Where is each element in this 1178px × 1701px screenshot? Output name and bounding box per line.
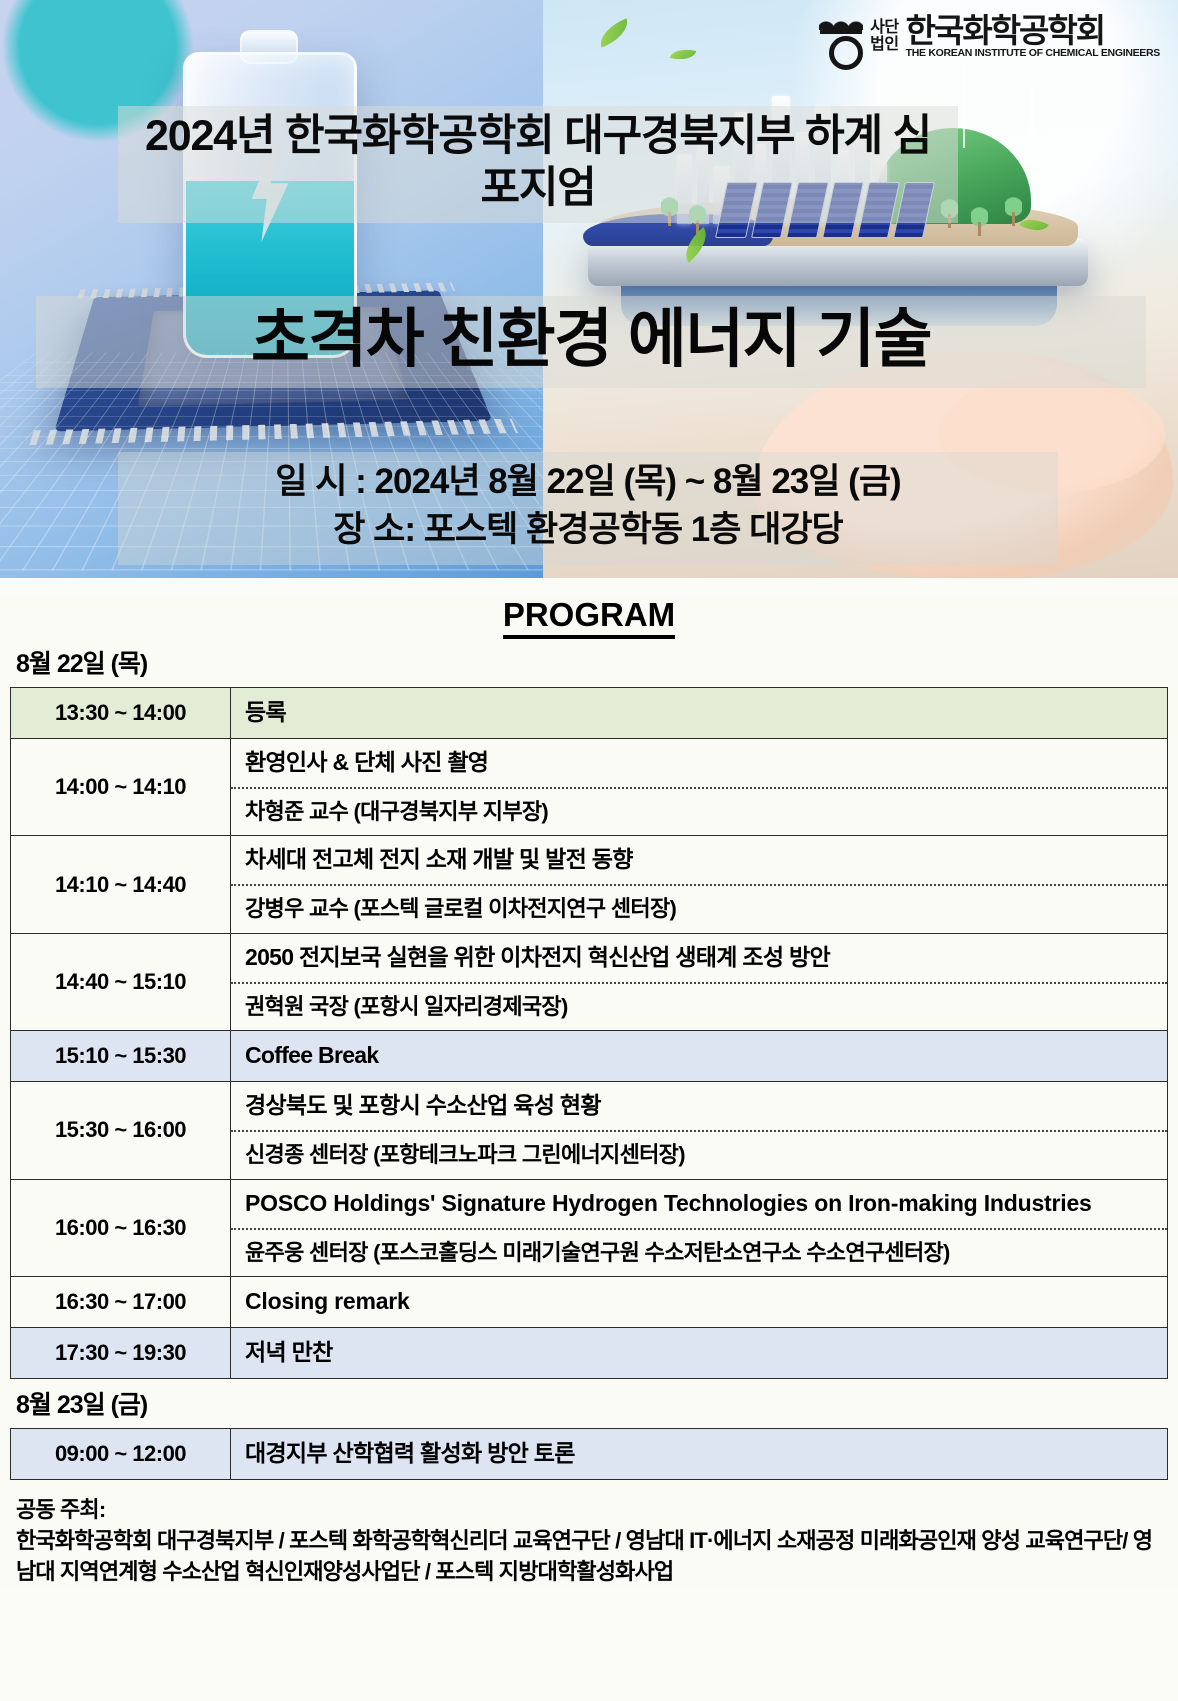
schedule-time: 14:40 ~ 15:10 bbox=[11, 933, 231, 1030]
session-speaker: 강병우 교수 (포스텍 글로컬 이차전지연구 센터장) bbox=[231, 886, 1167, 933]
wind-turbine-icon bbox=[963, 62, 965, 148]
schedule-time: 15:10 ~ 15:30 bbox=[11, 1031, 231, 1082]
logo-sadan-line1: 사단 bbox=[870, 20, 898, 37]
session-speaker: 윤주웅 센터장 (포스코홀딩스 미래기술연구원 수소저탄소연구소 수소연구센터장… bbox=[231, 1230, 1167, 1277]
program-days: 8월 22일 (목)13:30 ~ 14:00등록14:00 ~ 14:10환영… bbox=[10, 644, 1168, 1480]
program-section: PROGRAM 8월 22일 (목)13:30 ~ 14:00등록14:00 ~… bbox=[0, 596, 1178, 1588]
session-title: 경상북도 및 포항시 수소산업 육성 현황 bbox=[231, 1082, 1167, 1132]
program-heading: PROGRAM bbox=[10, 596, 1168, 634]
tree-icon bbox=[1005, 196, 1022, 226]
session-title: 환영인사 & 단체 사진 촬영 bbox=[231, 739, 1167, 789]
session-title: 2050 전지보국 실현을 위한 이차전지 혁신산업 생태계 조성 방안 bbox=[231, 934, 1167, 984]
schedule-row: 14:40 ~ 15:102050 전지보국 실현을 위한 이차전지 혁신산업 … bbox=[11, 933, 1168, 1030]
program-heading-text: PROGRAM bbox=[503, 596, 675, 639]
wind-turbine-icon bbox=[1031, 84, 1033, 170]
day-heading: 8월 23일 (금) bbox=[16, 1385, 1168, 1421]
session-item: Closing remark bbox=[231, 1277, 1167, 1327]
event-location: 장 소: 포스텍 환경공학동 1층 대강당 bbox=[126, 506, 1050, 554]
schedule-row: 14:00 ~ 14:10환영인사 & 단체 사진 촬영차형준 교수 (대구경북… bbox=[11, 738, 1168, 835]
schedule-content: Coffee Break bbox=[231, 1031, 1168, 1082]
event-title: 2024년 한국화학공학회 대구경북지부 하계 심포지엄 bbox=[118, 106, 958, 223]
schedule-row: 09:00 ~ 12:00대경지부 산학협력 활성화 방안 토론 bbox=[11, 1428, 1168, 1479]
schedule-time: 13:30 ~ 14:00 bbox=[11, 688, 231, 739]
event-meta: 일 시 : 2024년 8월 22일 (목) ~ 8월 23일 (금) 장 소:… bbox=[118, 452, 1058, 565]
schedule-table: 09:00 ~ 12:00대경지부 산학협력 활성화 방안 토론 bbox=[10, 1428, 1168, 1480]
session-item: 등록 bbox=[231, 688, 1167, 738]
hero-banner: 사단 법인 한국화학공학회 THE KOREAN INSTITUTE OF CH… bbox=[0, 0, 1178, 578]
schedule-content: Closing remark bbox=[231, 1277, 1168, 1328]
kiche-logo: 사단 법인 한국화학공학회 THE KOREAN INSTITUTE OF CH… bbox=[819, 14, 1160, 60]
session-item: 저녁 만찬 bbox=[231, 1328, 1167, 1378]
schedule-content: 차세대 전고체 전지 소재 개발 및 발전 동향강병우 교수 (포스텍 글로컬 … bbox=[231, 836, 1168, 933]
logo-english-name: THE KOREAN INSTITUTE OF CHEMICAL ENGINEE… bbox=[906, 47, 1160, 59]
kiche-emblem-icon bbox=[819, 14, 863, 60]
session-item: Coffee Break bbox=[231, 1031, 1167, 1081]
schedule-time: 15:30 ~ 16:00 bbox=[11, 1082, 231, 1179]
session-speaker: 권혁원 국장 (포항시 일자리경제국장) bbox=[231, 984, 1167, 1031]
schedule-time: 14:10 ~ 14:40 bbox=[11, 836, 231, 933]
logo-names: 한국화학공학회 THE KOREAN INSTITUTE OF CHEMICAL… bbox=[906, 15, 1160, 59]
logo-korean-name: 한국화학공학회 bbox=[906, 15, 1160, 47]
schedule-time: 16:00 ~ 16:30 bbox=[11, 1179, 231, 1276]
schedule-row: 13:30 ~ 14:00등록 bbox=[11, 688, 1168, 739]
session-speaker: 신경종 센터장 (포항테크노파크 그린에너지센터장) bbox=[231, 1132, 1167, 1179]
schedule-time: 16:30 ~ 17:00 bbox=[11, 1277, 231, 1328]
cohost-block: 공동 주최: 한국화학공학회 대구경북지부 / 포스텍 화학공학혁신리더 교육연… bbox=[16, 1494, 1168, 1588]
day-heading: 8월 22일 (목) bbox=[16, 644, 1168, 680]
schedule-table: 13:30 ~ 14:00등록14:00 ~ 14:10환영인사 & 단체 사진… bbox=[10, 687, 1168, 1379]
schedule-time: 17:30 ~ 19:30 bbox=[11, 1328, 231, 1379]
cohost-label: 공동 주최: bbox=[16, 1494, 1168, 1525]
poster-root: 사단 법인 한국화학공학회 THE KOREAN INSTITUTE OF CH… bbox=[0, 0, 1178, 1701]
session-title: 차세대 전고체 전지 소재 개발 및 발전 동향 bbox=[231, 836, 1167, 886]
schedule-content: 저녁 만찬 bbox=[231, 1328, 1168, 1379]
schedule-row: 17:30 ~ 19:30저녁 만찬 bbox=[11, 1328, 1168, 1379]
schedule-time: 14:00 ~ 14:10 bbox=[11, 738, 231, 835]
schedule-time: 09:00 ~ 12:00 bbox=[11, 1428, 231, 1479]
session-item: 대경지부 산학협력 활성화 방안 토론 bbox=[231, 1429, 1167, 1479]
logo-sadan-line2: 법인 bbox=[870, 37, 898, 54]
tree-icon bbox=[971, 206, 988, 236]
logo-corporation-mark: 사단 법인 bbox=[870, 20, 898, 54]
schedule-content: 환영인사 & 단체 사진 촬영차형준 교수 (대구경북지부 지부장) bbox=[231, 738, 1168, 835]
schedule-row: 15:30 ~ 16:00경상북도 및 포항시 수소산업 육성 현황신경종 센터… bbox=[11, 1082, 1168, 1179]
event-subject: 초격차 친환경 에너지 기술 bbox=[36, 296, 1146, 388]
schedule-content: 등록 bbox=[231, 688, 1168, 739]
schedule-row: 16:00 ~ 16:30POSCO Holdings' Signature H… bbox=[11, 1179, 1168, 1276]
session-speaker: 차형준 교수 (대구경북지부 지부장) bbox=[231, 789, 1167, 836]
schedule-content: 대경지부 산학협력 활성화 방안 토론 bbox=[231, 1428, 1168, 1479]
leaf-icon bbox=[670, 45, 696, 63]
session-title: POSCO Holdings' Signature Hydrogen Techn… bbox=[231, 1180, 1167, 1230]
cohost-body: 한국화학공학회 대구경북지부 / 포스텍 화학공학혁신리더 교육연구단 / 영남… bbox=[16, 1525, 1168, 1587]
schedule-row: 15:10 ~ 15:30Coffee Break bbox=[11, 1031, 1168, 1082]
schedule-row: 16:30 ~ 17:00Closing remark bbox=[11, 1277, 1168, 1328]
schedule-content: 2050 전지보국 실현을 위한 이차전지 혁신산업 생태계 조성 방안권혁원 … bbox=[231, 933, 1168, 1030]
event-datetime: 일 시 : 2024년 8월 22일 (목) ~ 8월 23일 (금) bbox=[126, 458, 1050, 506]
schedule-content: POSCO Holdings' Signature Hydrogen Techn… bbox=[231, 1179, 1168, 1276]
leaf-icon bbox=[595, 18, 633, 47]
schedule-content: 경상북도 및 포항시 수소산업 육성 현황신경종 센터장 (포항테크노파크 그린… bbox=[231, 1082, 1168, 1179]
schedule-row: 14:10 ~ 14:40차세대 전고체 전지 소재 개발 및 발전 동향강병우… bbox=[11, 836, 1168, 933]
